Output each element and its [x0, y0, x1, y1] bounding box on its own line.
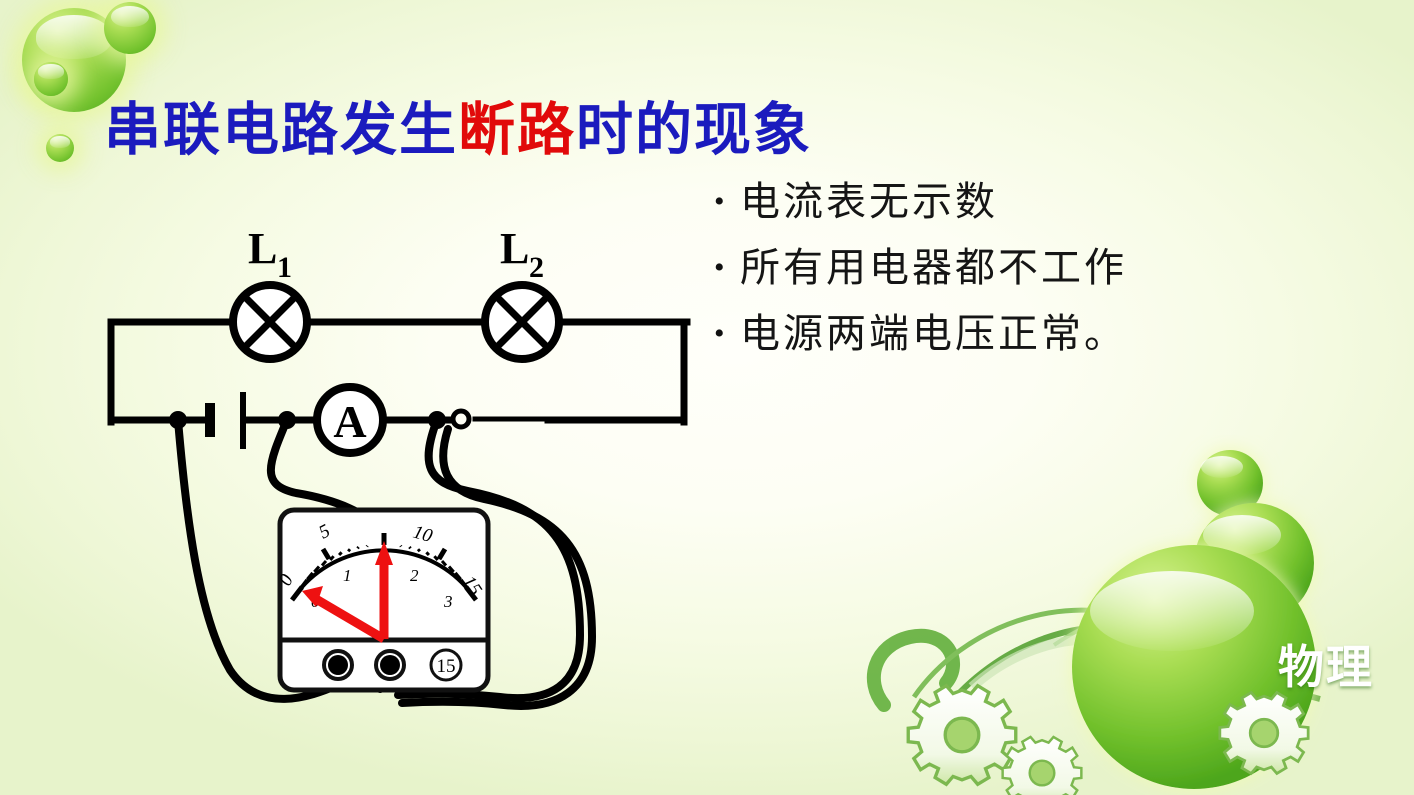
battery-symbol [210, 392, 243, 449]
gear-icon-small [1003, 737, 1082, 795]
lamp-L2-subscript: 2 [529, 251, 544, 284]
lamp-L1-label: L [248, 224, 277, 273]
range-badge-label: 15 [437, 656, 456, 677]
title-segment-blue-2: 时的现象 [576, 99, 812, 162]
list-item: • 电流表无示数 [706, 176, 1266, 228]
bullet-text: 所有用电器都不工作 [740, 242, 1127, 294]
decoration-bottom-right [854, 435, 1414, 795]
title-segment-red: 断路 [458, 99, 576, 162]
gear-icon-large [908, 686, 1016, 785]
bullet-text: 电流表无示数 [740, 176, 998, 228]
title-segment-blue-1: 串联电路发生 [104, 99, 458, 162]
ammeter-label: A [333, 396, 366, 447]
slide-canvas: 串联电路发生断路时的现象 • 电流表无示数 • 所有用电器都不工作 • 电源两端… [0, 0, 1414, 795]
lamp-L2-label: L [500, 224, 529, 273]
meter-inner-label-1: 1 [343, 566, 352, 585]
lamp-L1 [233, 285, 307, 359]
switch-symbol [453, 411, 469, 427]
decor-bubble-medium-topleft [104, 2, 156, 54]
decor-bubble-small-topleft [34, 62, 68, 96]
meter-inner-label-3: 3 [443, 592, 453, 611]
circuit-diagram: L 1 L 2 A [80, 215, 720, 715]
list-item: • 电源两端电压正常。 [706, 308, 1266, 360]
meter-inner-label-2: 2 [410, 566, 419, 585]
ammeter-symbol: A [317, 387, 383, 453]
decor-bubble-tiny-topleft [46, 134, 74, 162]
lamp-L2 [485, 285, 559, 359]
lamp-L1-subscript: 1 [277, 251, 292, 284]
voltmeter-device: 0 5 10 15 0 1 2 3 [275, 510, 488, 690]
page-title: 串联电路发生断路时的现象 [104, 84, 812, 166]
bullet-text: 电源两端电压正常。 [740, 308, 1127, 360]
list-item: • 所有用电器都不工作 [706, 242, 1266, 294]
bullet-list: • 电流表无示数 • 所有用电器都不工作 • 电源两端电压正常。 [706, 176, 1266, 374]
